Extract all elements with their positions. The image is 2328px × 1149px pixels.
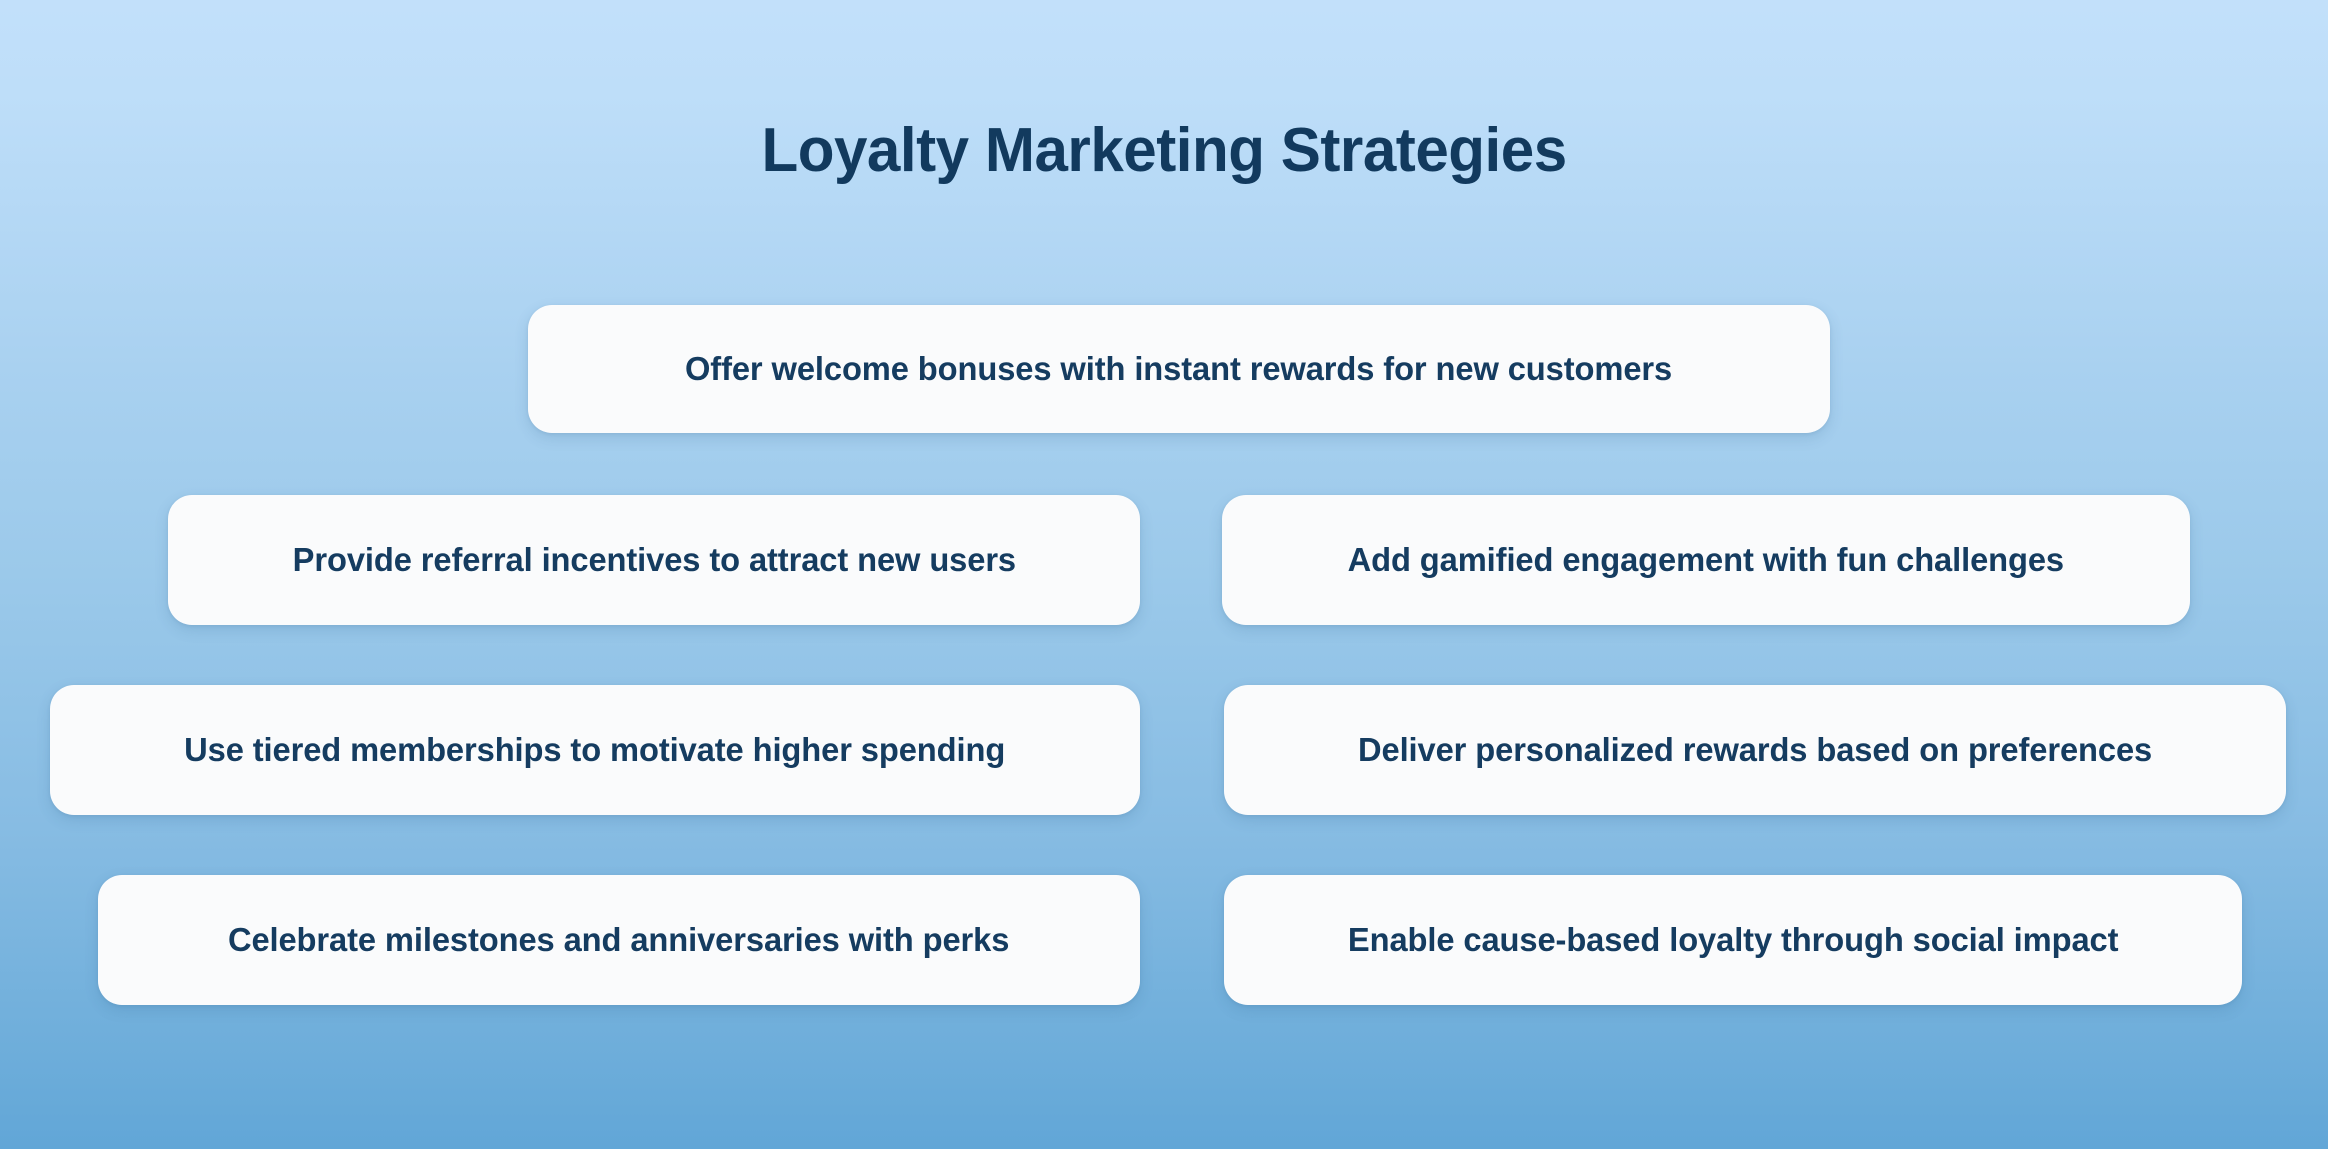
strategy-card-label: Provide referral incentives to attract n… [292, 541, 1015, 580]
strategy-card-personalized-rewards[interactable]: Deliver personalized rewards based on pr… [1224, 685, 2286, 815]
strategy-card-label: Add gamified engagement with fun challen… [1348, 541, 2064, 580]
strategy-card-label: Offer welcome bonuses with instant rewar… [685, 350, 1672, 389]
title-container: Loyalty Marketing Strategies [0, 118, 2328, 183]
strategy-card-label: Celebrate milestones and anniversaries w… [228, 921, 1009, 960]
strategy-card-celebrate-milestones[interactable]: Celebrate milestones and anniversaries w… [98, 875, 1140, 1005]
strategy-card-label: Use tiered memberships to motivate highe… [184, 731, 1005, 770]
strategy-card-tiered-memberships[interactable]: Use tiered memberships to motivate highe… [50, 685, 1140, 815]
strategy-card-label: Deliver personalized rewards based on pr… [1358, 731, 2152, 770]
strategy-card-cause-based-loyalty[interactable]: Enable cause-based loyalty through socia… [1224, 875, 2242, 1005]
strategy-card-label: Enable cause-based loyalty through socia… [1348, 921, 2118, 960]
strategy-card-welcome-bonuses[interactable]: Offer welcome bonuses with instant rewar… [528, 305, 1830, 433]
page-title: Loyalty Marketing Strategies [761, 118, 1566, 183]
poster-canvas: Loyalty Marketing Strategies Offer welco… [0, 0, 2328, 1149]
strategy-card-gamified-engagement[interactable]: Add gamified engagement with fun challen… [1222, 495, 2190, 625]
strategy-card-referral-incentives[interactable]: Provide referral incentives to attract n… [168, 495, 1140, 625]
